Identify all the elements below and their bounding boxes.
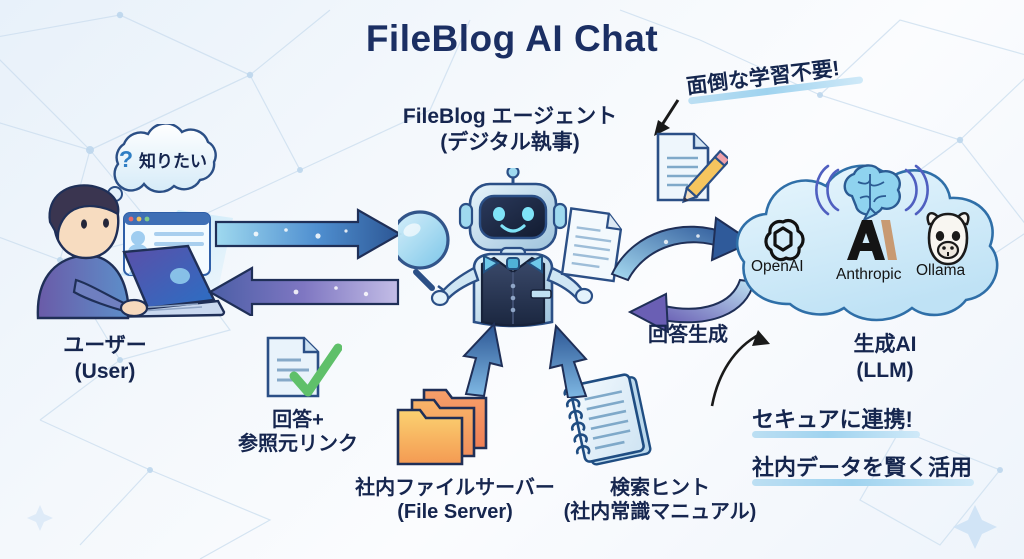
search-hint-label: 検索ヒント (社内常識マニュアル) [530,476,790,525]
thought-bubble-label: 知りたい [139,147,207,172]
anthropic-label: Anthropic [836,266,901,284]
arrow-user-to-agent [186,196,426,316]
arrow-sources-to-agent [440,318,610,398]
page-title: FileBlog AI Chat [0,18,1024,60]
agent-label: FileBlog エージェント (デジタル執事) [370,104,650,155]
callout-smart-use: 社内データを賢く活用 [752,450,974,486]
llama-logo-icon [917,208,979,270]
callout-secure: セキュアに連携! [752,402,920,438]
llm-label: 生成AI (LLM) [790,332,980,383]
ollama-label: Ollama [916,262,965,280]
openai-logo-icon [760,216,806,262]
thought-bubble: ? 知りたい [88,124,238,194]
openai-label: OpenAI [751,258,804,276]
callout-smart-use-text: 社内データを賢く活用 [752,450,972,482]
callout-secure-text: セキュアに連携! [752,402,913,434]
question-mark-icon: ? [119,148,133,171]
user-label: ユーザー (User) [0,333,210,384]
infographic-canvas: FileBlog AI Chat ? 知りたい [0,0,1024,559]
anthropic-logo-icon [845,216,899,264]
thought-bubble-text: ? 知りたい [88,124,238,194]
generate-answer-label: 回答生成 [618,323,758,347]
answer-label: 回答+ 参照元リンク [213,408,383,457]
butler-robot-icon [398,168,628,333]
document-check-icon [254,332,342,408]
brain-icon [812,160,932,224]
